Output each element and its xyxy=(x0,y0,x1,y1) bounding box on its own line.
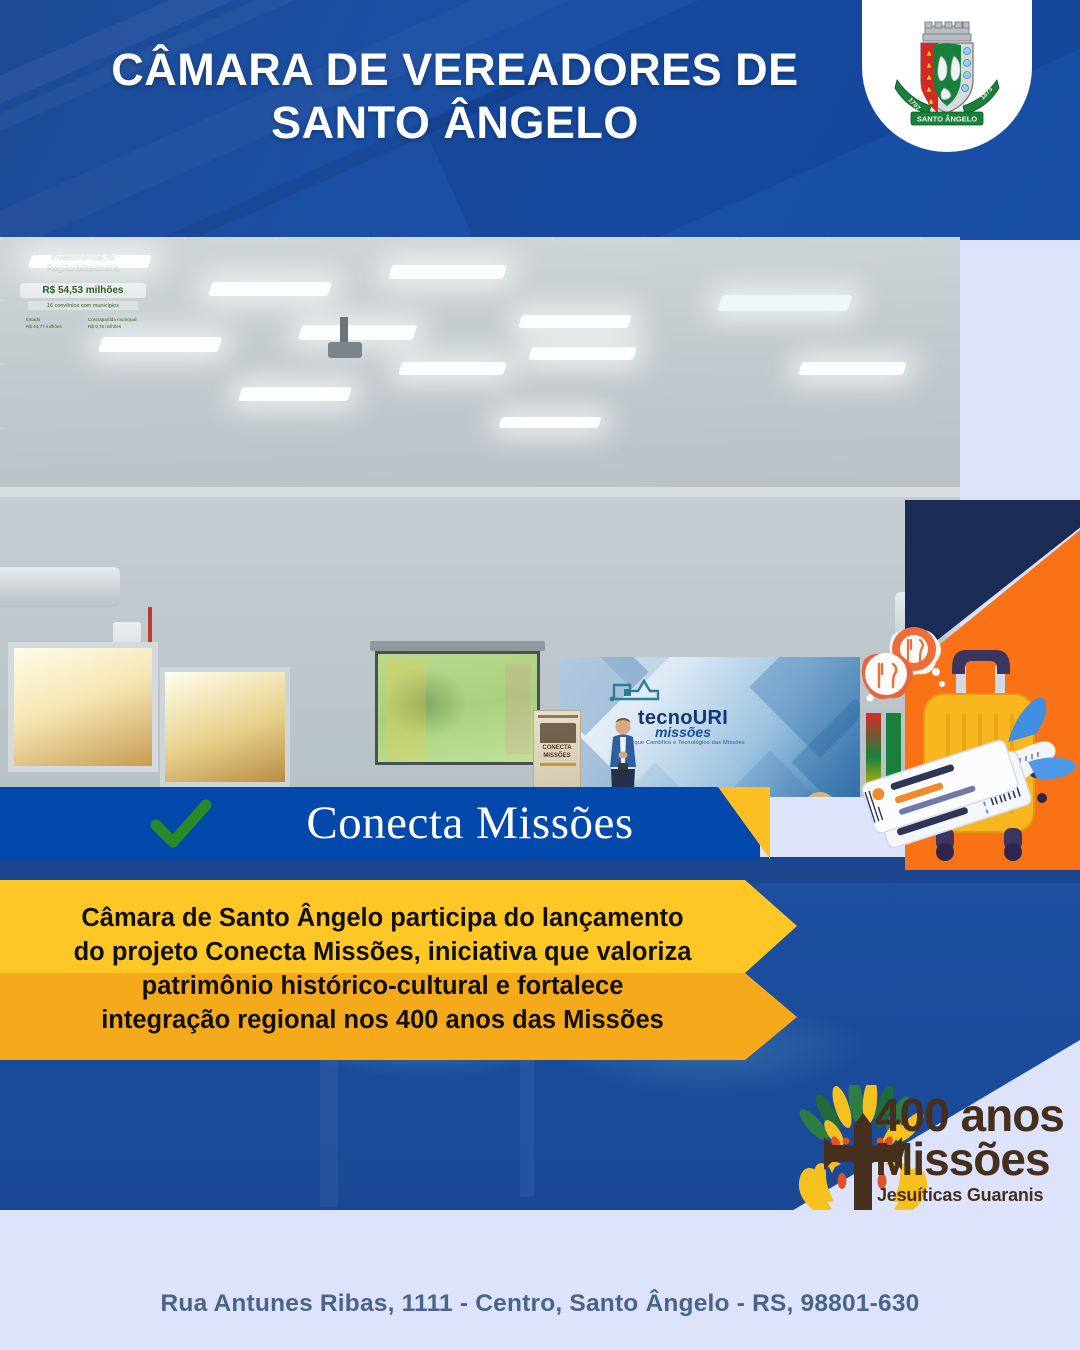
headline-chevron-top xyxy=(745,880,797,973)
slide-footnote-left: Estado R$ 44,77 milhões xyxy=(26,317,62,331)
footer-address: Rua Antunes Ribas, 1111 - Centro, Santo … xyxy=(0,1290,1080,1318)
slide-title: Investimentos na Região Missioneira xyxy=(12,251,154,274)
slide-title-line-2: Região Missioneira xyxy=(12,262,154,273)
slide-value: R$ 54,53 milhões xyxy=(20,283,146,298)
headline-banner: Câmara de Santo Ângelo participa do lanç… xyxy=(0,880,800,1060)
slide-subtitle: 16 convênios com municípios xyxy=(28,301,138,310)
logo-400-line-2: Missões xyxy=(875,1132,1050,1186)
headline-line-3: patrimônio histórico-cultural e fortalec… xyxy=(142,970,624,1004)
poster-canvas: CÂMARA DE VEREADORES DE SANTO ÂNGELO xyxy=(0,0,1080,1350)
tecnouri-logo-icon xyxy=(600,677,680,703)
page-title: CÂMARA DE VEREADORES DE SANTO ÂNGELO xyxy=(90,44,820,149)
footer-bar xyxy=(0,1210,1080,1350)
event-photograph: Investimentos na Região Missioneira R$ 5… xyxy=(0,237,960,797)
headline-line-1: Câmara de Santo Ângelo participa do lanç… xyxy=(81,902,683,936)
tecnouri-tagline: Parque Científico e Tecnológico das Miss… xyxy=(560,740,810,746)
headline-chevron-bottom xyxy=(745,973,797,1060)
slide-footnote-right: Contrapartida municipal R$ 9,76 milhões xyxy=(88,317,137,331)
headline-text: Câmara de Santo Ângelo participa do lanç… xyxy=(20,890,745,1050)
window xyxy=(8,642,158,772)
restaurant-icon xyxy=(862,627,945,702)
headline-line-4: integração regional nos 400 anos das Mis… xyxy=(101,1004,664,1038)
logo-400-line-3: Jesuíticas Guaranis xyxy=(877,1185,1043,1206)
air-conditioner xyxy=(0,567,120,607)
rollup-banner-text: CONECTA MISSÕES xyxy=(533,745,581,760)
conecta-bar-yellow-wedge xyxy=(718,787,770,859)
screen-roller xyxy=(370,641,545,651)
tecnouri-brand-sub: missões xyxy=(568,724,798,740)
title-line-2: SANTO ÂNGELO xyxy=(90,97,820,150)
svg-text:SANTO ÂNGELO: SANTO ÂNGELO xyxy=(917,115,977,124)
title-line-1: CÂMARA DE VEREADORES DE xyxy=(90,44,820,97)
tourism-sticker xyxy=(852,612,1080,877)
headline-line-2: do projeto Conecta Missões, iniciativa q… xyxy=(74,936,692,970)
projection-screen xyxy=(375,651,540,765)
conecta-title: Conecta Missões xyxy=(230,790,710,856)
coat-of-arms-icon: SANTO ÂNGELO 1707 1873 xyxy=(881,18,1013,138)
check-icon xyxy=(150,798,212,850)
slide-title-line-1: Investimentos na xyxy=(12,251,154,262)
